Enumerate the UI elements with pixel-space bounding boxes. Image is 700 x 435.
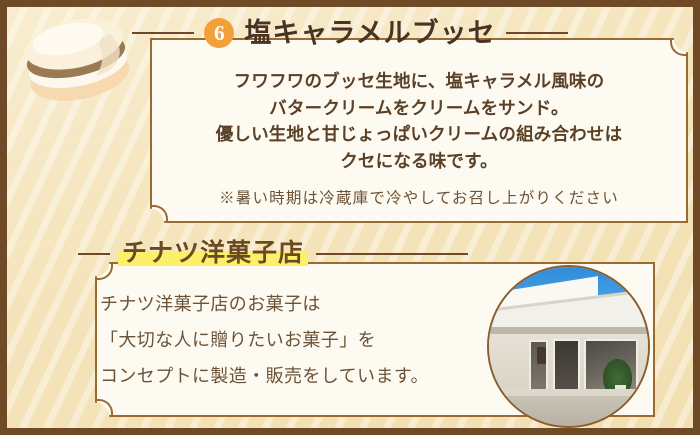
panel-notch-bottom-left-2 — [95, 399, 113, 417]
description-line: フワフワのブッセ生地に、塩キャラメル風味の — [150, 68, 688, 95]
title-rule-right — [506, 32, 568, 34]
description-line: バタークリームをクリームをサンド。 — [150, 95, 688, 122]
promo-card-canvas: 6 塩キャラメルブッセ フワフワのブッセ生地に、塩キャラメル風味の バタークリー… — [0, 0, 700, 435]
shop-description-text: チナツ洋菓子店のお菓子は 「大切な人に贈りたいお菓子」を コンセプトに製造・販売… — [100, 286, 490, 394]
frame-border-bottom — [0, 428, 700, 435]
shop-name-header: チナツ洋菓子店 — [78, 237, 468, 271]
shop-rule-left — [78, 253, 110, 255]
photo-wall-sign — [537, 347, 547, 364]
shop-storefront-photo — [487, 265, 650, 428]
product-number-badge: 6 — [204, 18, 234, 48]
shop-name: チナツ洋菓子店 — [122, 241, 304, 267]
busse-pastry-illustration — [18, 8, 140, 106]
shop-description-line: コンセプトに製造・販売をしています。 — [100, 358, 490, 394]
description-line: クセになる味です。 — [150, 148, 688, 175]
shop-description-line: チナツ洋菓子店のお菓子は — [100, 286, 490, 322]
page-title: 塩キャラメルブッセ — [244, 20, 495, 47]
photo-ground — [489, 396, 648, 426]
frame-border-right — [693, 0, 700, 435]
title-rule-left — [132, 32, 194, 34]
shop-name-wrapper: チナツ洋菓子店 — [118, 241, 308, 267]
shop-rule-right — [316, 253, 468, 255]
storage-note: ※暑い時期は冷蔵庫で冷やしてお召し上がりください — [150, 186, 688, 208]
frame-border-top — [0, 0, 700, 7]
photo-entrance-door — [553, 339, 580, 395]
shop-description-line: 「大切な人に贈りたいお菓子」を — [100, 322, 490, 358]
description-line: 優しい生地と甘じょっぱいクリームの組み合わせは — [150, 121, 688, 148]
frame-border-left — [0, 0, 7, 435]
product-description-text: フワフワのブッセ生地に、塩キャラメル風味の バタークリームをクリームをサンド。 … — [150, 68, 688, 174]
